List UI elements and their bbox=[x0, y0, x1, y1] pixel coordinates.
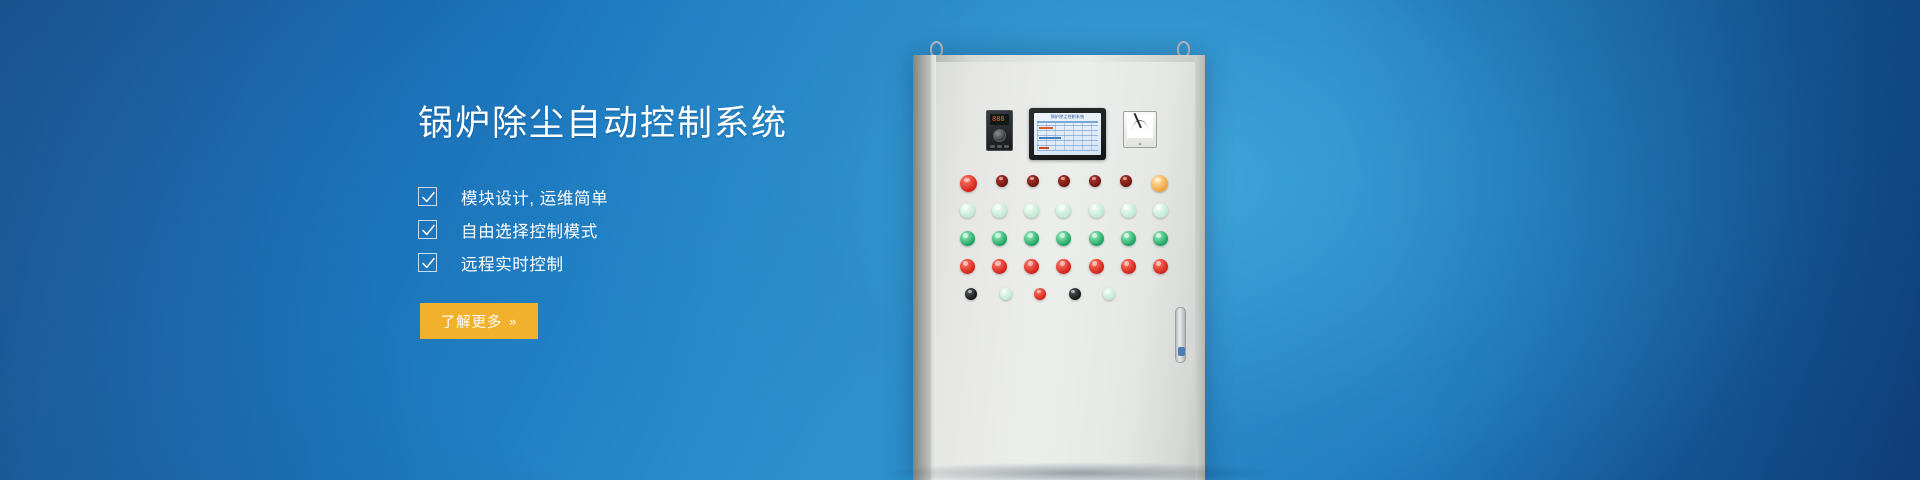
controller-button[interactable] bbox=[1004, 145, 1009, 148]
cabinet-top-face bbox=[913, 55, 1205, 62]
push-button-black[interactable] bbox=[1069, 288, 1081, 300]
indicator-lamp-green[interactable] bbox=[992, 231, 1007, 246]
list-item-label: 自由选择控制模式 bbox=[461, 218, 598, 242]
indicator-lamp-mint[interactable] bbox=[1121, 203, 1136, 218]
indicator-lamp-red[interactable] bbox=[1024, 259, 1039, 274]
controller-buttons[interactable] bbox=[990, 145, 1009, 148]
push-button-mint[interactable] bbox=[1000, 288, 1012, 300]
hmi-accent-bar bbox=[1039, 127, 1053, 129]
push-button-mint[interactable] bbox=[1103, 288, 1115, 300]
indicator-lamp-row bbox=[960, 259, 1168, 274]
indicator-lamp-mint[interactable] bbox=[960, 203, 975, 218]
list-item-label: 模块设计, 运维简单 bbox=[461, 185, 608, 209]
door-handle-with-lock[interactable] bbox=[1175, 307, 1186, 363]
indicator-lamp-amber[interactable] bbox=[1151, 175, 1168, 192]
push-button-red[interactable] bbox=[1034, 288, 1046, 300]
indicator-lamp-red[interactable] bbox=[1056, 259, 1071, 274]
meter-face bbox=[1127, 115, 1153, 138]
push-button-black[interactable] bbox=[965, 288, 977, 300]
indicator-lamp-red[interactable] bbox=[1089, 259, 1104, 274]
hero-copy: 锅炉除尘自动控制系统 模块设计, 运维简单 自由选择控制模式 bbox=[418, 104, 938, 339]
controller-button[interactable] bbox=[990, 145, 995, 148]
controller-knob[interactable] bbox=[993, 129, 1006, 142]
indicator-lamp-red[interactable] bbox=[960, 175, 977, 192]
feature-list: 模块设计, 运维简单 自由选择控制模式 远程实时控制 bbox=[418, 180, 938, 279]
indicator-lamp-green[interactable] bbox=[1024, 231, 1039, 246]
indicator-lamp-row bbox=[960, 203, 1168, 218]
indicator-lamp-mint[interactable] bbox=[992, 203, 1007, 218]
indicator-lamp-dark-red[interactable] bbox=[1058, 175, 1070, 187]
indicator-lamp-mint[interactable] bbox=[1089, 203, 1104, 218]
cabinet-floor-shadow bbox=[880, 462, 1280, 480]
indicator-lamp-dark-red[interactable] bbox=[1120, 175, 1132, 187]
indicator-lamp-row bbox=[960, 175, 1168, 192]
list-item: 远程实时控制 bbox=[418, 246, 938, 279]
indicator-lamp-mint[interactable] bbox=[1024, 203, 1039, 218]
indicator-lamp-mint[interactable] bbox=[1153, 203, 1168, 218]
indicator-lamp-row bbox=[965, 288, 1115, 300]
hmi-screen[interactable]: 锅炉除尘控制系统 bbox=[1034, 113, 1101, 155]
cabinet-door-left-edge-highlight bbox=[931, 55, 936, 480]
hmi-touch-panel[interactable]: 锅炉除尘控制系统 bbox=[1029, 108, 1106, 160]
list-item: 自由选择控制模式 bbox=[418, 213, 938, 246]
indicator-lamp-dark-red[interactable] bbox=[996, 175, 1008, 187]
indicator-lamp-green[interactable] bbox=[960, 231, 975, 246]
indicator-lamp-red[interactable] bbox=[960, 259, 975, 274]
temperature-controller[interactable]: 888 bbox=[986, 110, 1013, 151]
indicator-lamp-green[interactable] bbox=[1153, 231, 1168, 246]
controller-button[interactable] bbox=[997, 145, 1002, 148]
controller-display-value: 888 bbox=[992, 115, 1005, 124]
indicator-lamp-dark-red[interactable] bbox=[1027, 175, 1039, 187]
checkbox-check-icon bbox=[418, 187, 437, 206]
learn-more-label: 了解更多 bbox=[441, 311, 502, 332]
analog-panel-meter: A bbox=[1123, 111, 1157, 148]
chevron-right-icon: » bbox=[509, 314, 517, 329]
meter-scale-label: A bbox=[1124, 141, 1156, 146]
hmi-accent-bar bbox=[1039, 147, 1049, 149]
control-cabinet-body: 888 锅炉除尘控制系统 bbox=[913, 55, 1205, 480]
cabinet-door-left-edge bbox=[913, 55, 931, 480]
checkbox-check-icon bbox=[418, 220, 437, 239]
controller-display: 888 bbox=[990, 114, 1009, 125]
indicator-lamp-red[interactable] bbox=[992, 259, 1007, 274]
list-item: 模块设计, 运维简单 bbox=[418, 180, 938, 213]
indicator-lamp-green[interactable] bbox=[1056, 231, 1071, 246]
learn-more-button[interactable]: 了解更多 » bbox=[420, 303, 538, 339]
hmi-screen-title: 锅炉除尘控制系统 bbox=[1034, 114, 1101, 120]
checkbox-check-icon bbox=[418, 253, 437, 272]
indicator-lamp-green[interactable] bbox=[1121, 231, 1136, 246]
hero-banner: 锅炉除尘自动控制系统 模块设计, 运维简单 自由选择控制模式 bbox=[0, 0, 1920, 480]
indicator-lamp-dark-red[interactable] bbox=[1089, 175, 1101, 187]
list-item-label: 远程实时控制 bbox=[461, 251, 564, 275]
hmi-accent-bar bbox=[1039, 137, 1061, 139]
page-title: 锅炉除尘自动控制系统 bbox=[418, 104, 938, 144]
indicator-lamp-row bbox=[960, 231, 1168, 246]
indicator-lamp-mint[interactable] bbox=[1056, 203, 1071, 218]
control-cabinet-image: 888 锅炉除尘控制系统 bbox=[905, 0, 1235, 480]
indicator-lamp-red[interactable] bbox=[1153, 259, 1168, 274]
cabinet-right-edge bbox=[1195, 55, 1205, 480]
indicator-lamp-red[interactable] bbox=[1121, 259, 1136, 274]
indicator-lamp-green[interactable] bbox=[1089, 231, 1104, 246]
